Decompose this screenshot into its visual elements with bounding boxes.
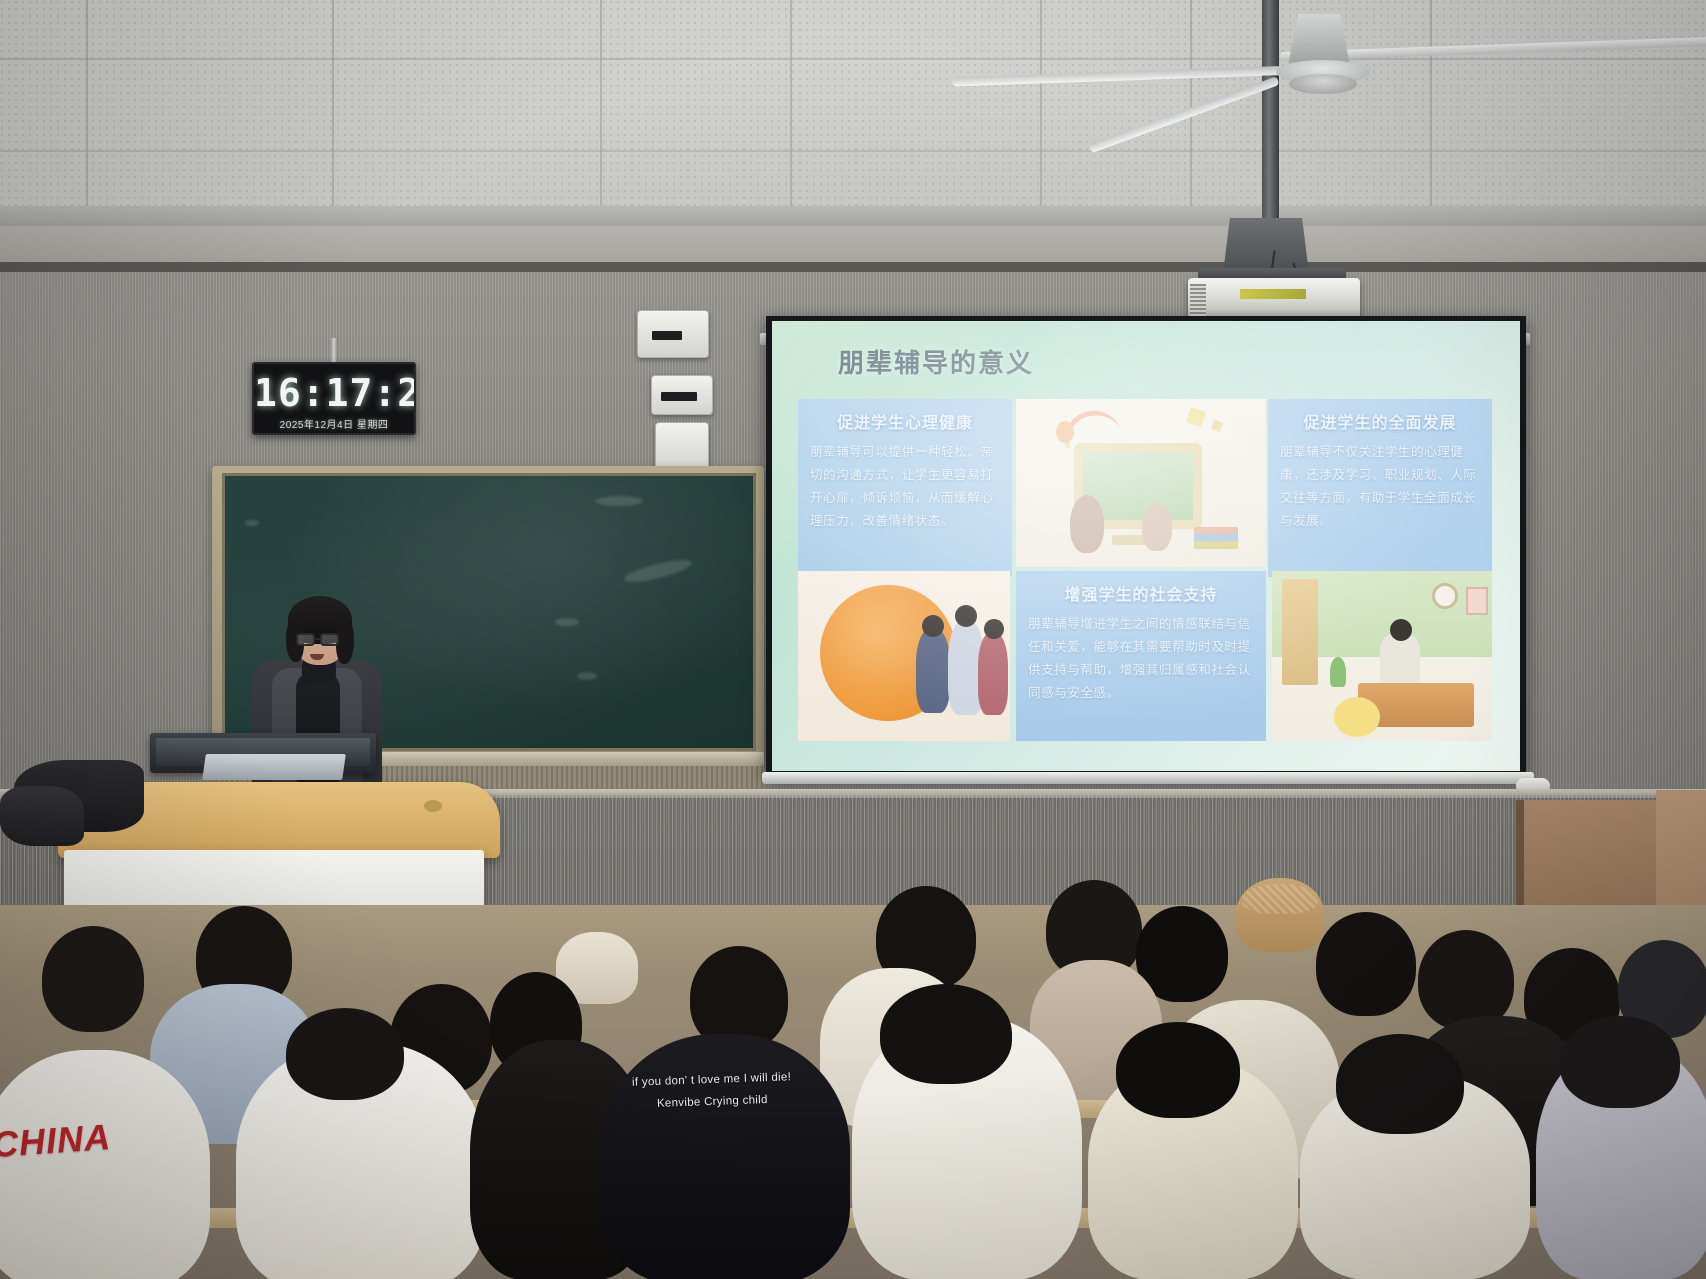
ceiling-seam <box>1040 0 1042 232</box>
panel-slot-icon <box>661 392 697 401</box>
head-icon <box>984 619 1004 639</box>
audience-fur-hat <box>1236 878 1324 952</box>
control-panel-middle[interactable] <box>651 375 713 415</box>
projector-label-strip <box>1240 289 1306 299</box>
projector-mount <box>1223 218 1309 274</box>
eyeglasses-icon <box>320 633 339 646</box>
plant-icon <box>1330 657 1346 687</box>
slide-title: 朋辈辅导的意义 <box>838 343 1034 380</box>
lecture-hall-photo: 16:17:20 2025年12月4日 星期四 朋辈辅导的意义 促进学生心理健康… <box>0 0 1706 1279</box>
panel-slot-icon <box>652 331 682 340</box>
slide-panel-left: 促进学生心理健康 朋辈辅导可以提供一种轻松、亲切的沟通方式，让学生更容易打开心扉… <box>798 399 1012 577</box>
clock-date: 2025年12月4日 星期四 <box>254 416 414 431</box>
audience-head <box>880 984 1012 1084</box>
chalk-smudge <box>555 618 579 626</box>
slide-panel-middle-title: 增强学生的社会支持 <box>1016 581 1266 605</box>
door-icon <box>1282 579 1318 685</box>
china-jacket-text: CHINA <box>0 1116 112 1166</box>
podium-cable-notch <box>424 800 442 812</box>
audience-head <box>1316 912 1416 1016</box>
balloon-icon <box>1056 421 1074 443</box>
star-icon <box>1186 407 1207 428</box>
student-figure-icon <box>978 633 1008 715</box>
eyeglasses-icon <box>296 633 315 646</box>
clock-hanger <box>331 338 337 364</box>
slide-panel-middle: 增强学生的社会支持 朋辈辅导增进学生之间的情感联结与信任和关爱，能够在其需要帮助… <box>1016 571 1266 741</box>
audience-head <box>1116 1022 1240 1118</box>
slide-panel-left-title: 促进学生心理健康 <box>798 409 1012 433</box>
counselor-figure-icon <box>1380 633 1420 689</box>
clock-time: 16:17:20 <box>254 371 414 415</box>
ceiling-seam <box>790 0 792 232</box>
audience-head <box>1418 930 1514 1030</box>
projection-screen: 朋辈辅导的意义 促进学生心理健康 朋辈辅导可以提供一种轻松、亲切的沟通方式，让学… <box>772 321 1520 771</box>
chalk-smudge <box>622 556 693 587</box>
child-figure-icon <box>1142 503 1172 551</box>
slide-panel-right-title: 促进学生的全面发展 <box>1268 409 1492 433</box>
slide-illustration-group <box>798 571 1010 741</box>
audience-head <box>1560 1016 1680 1108</box>
ceiling-fan-hub-inner <box>1289 74 1357 94</box>
ceiling-seam <box>332 0 334 232</box>
ceiling <box>0 0 1706 232</box>
yellow-circle-graphic <box>1334 697 1380 737</box>
head-icon <box>922 615 944 637</box>
slide-panel-right: 促进学生的全面发展 朋辈辅导不仅关注学生的心理健康，还涉及学习、职业规划、人际交… <box>1268 399 1492 577</box>
star-icon <box>1211 420 1224 433</box>
eyeglasses-bridge <box>315 638 320 640</box>
slide-panel-middle-body: 朋辈辅导增进学生之间的情感联结与信任和关爱，能够在其需要帮助时及时提供支持与帮助… <box>1028 613 1254 706</box>
books-icon <box>1194 527 1238 549</box>
chalk-smudge <box>577 672 597 680</box>
child-figure-icon <box>1070 495 1104 553</box>
ceiling-seam <box>86 0 88 232</box>
slide-illustration-office <box>1272 571 1492 741</box>
slide-panel-right-body: 朋辈辅导不仅关注学生的心理健康，还涉及学习、职业规划、人际交往等方面，有助于学生… <box>1280 441 1480 534</box>
audience-head <box>42 926 144 1032</box>
digital-wall-clock: 16:17:20 2025年12月4日 星期四 <box>252 362 416 435</box>
screen-bottom-bar[interactable] <box>762 772 1534 784</box>
ceiling-fan-pole <box>1262 0 1279 240</box>
audience-person-china-jacket <box>0 1050 210 1279</box>
slide-panel-left-body: 朋辈辅导可以提供一种轻松、亲切的沟通方式，让学生更容易打开心扉，倾诉烦恼，从而缓… <box>810 441 1000 534</box>
wall-dark-band <box>0 262 1706 272</box>
audience-head <box>286 1008 404 1100</box>
control-panel-lower[interactable] <box>655 422 709 470</box>
projector-vent <box>1190 284 1206 318</box>
draped-coat <box>0 786 84 846</box>
chalk-smudge <box>595 496 643 506</box>
ceiling-seam <box>1430 0 1432 232</box>
podium-secondary-screen <box>202 754 346 780</box>
ceiling-texture <box>0 0 1706 232</box>
ceiling-fan-motor <box>1288 14 1350 66</box>
slide-illustration-tv <box>1016 399 1266 567</box>
head-icon <box>1390 619 1412 641</box>
jacket-slogan: if you don' t love me I will die! Kenvib… <box>611 1067 812 1118</box>
wall-clock-icon <box>1432 583 1458 609</box>
ceiling-seam <box>600 0 602 232</box>
chalk-smudge <box>245 520 259 526</box>
student-figure-icon <box>916 629 950 713</box>
control-panel-upper[interactable] <box>637 310 709 358</box>
picture-frame-icon <box>1466 587 1488 615</box>
head-icon <box>955 605 977 627</box>
audience-head <box>1336 1034 1464 1134</box>
ceiling-seam <box>0 150 1706 152</box>
ceiling-seam <box>0 58 1706 60</box>
